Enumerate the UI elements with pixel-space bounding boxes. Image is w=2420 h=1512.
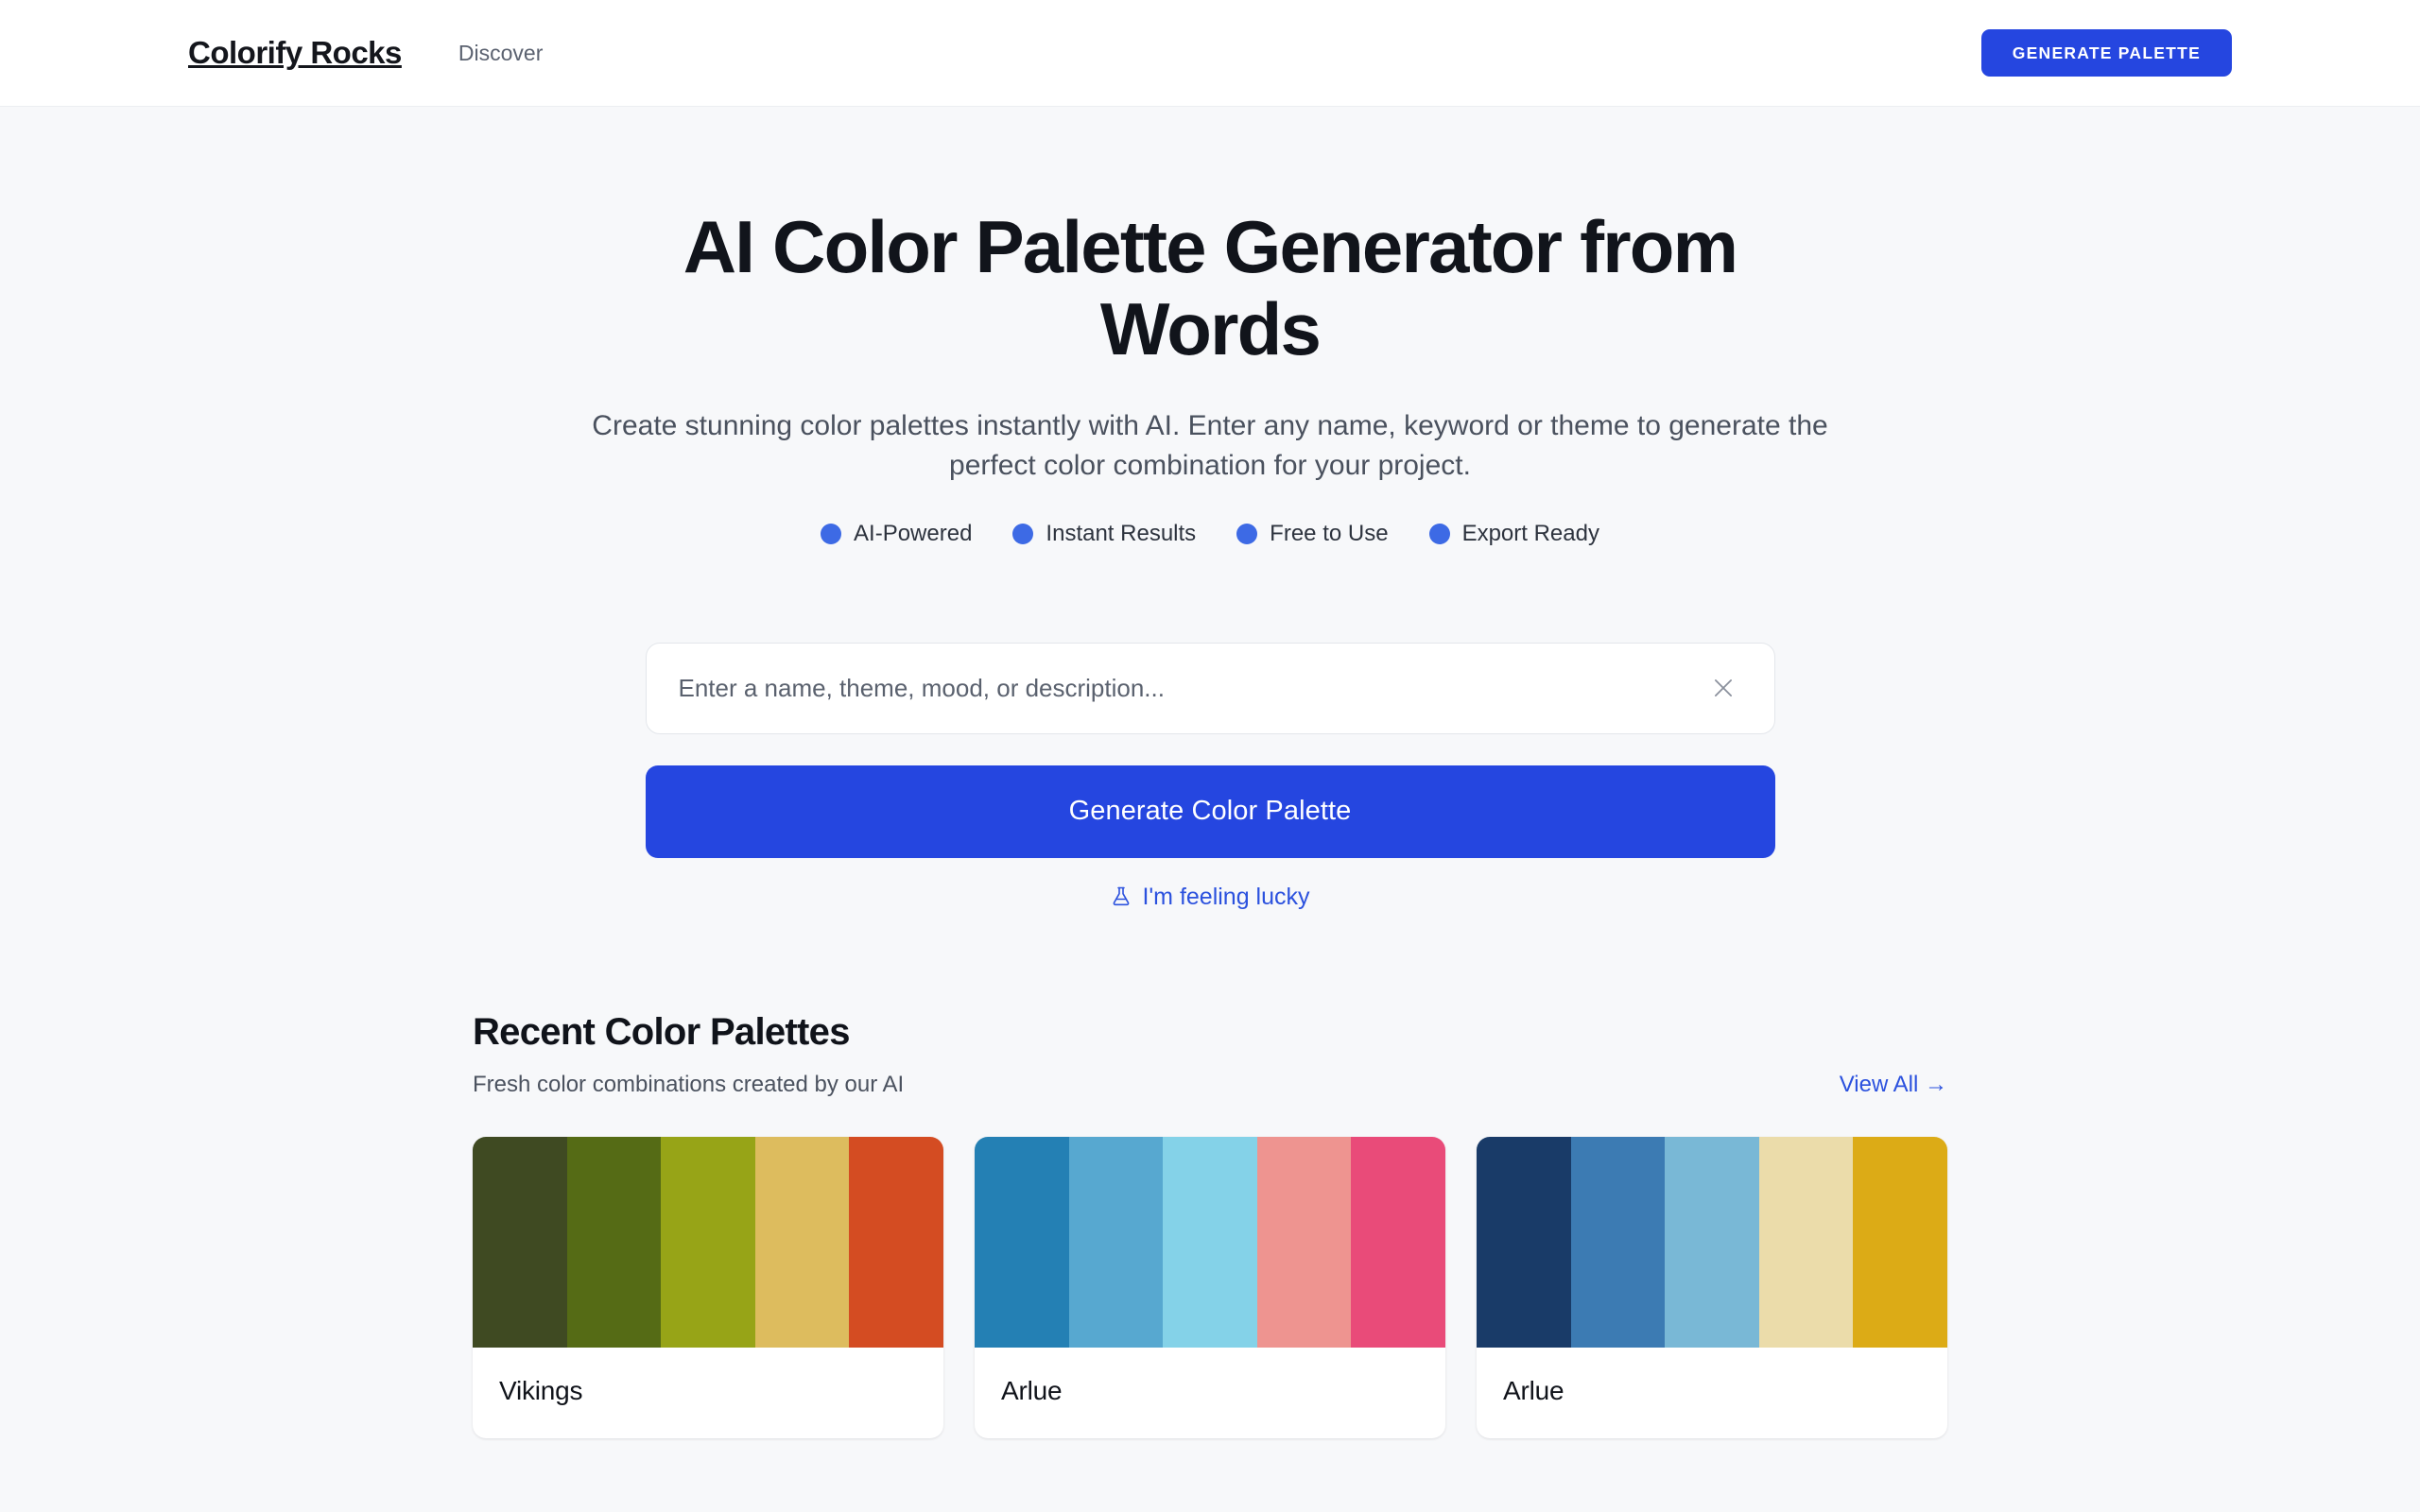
clear-input-button[interactable]	[1704, 669, 1742, 707]
palette-meta: Vikings	[473, 1348, 943, 1438]
feature-label: AI-Powered	[854, 521, 972, 547]
generate-palette-header-button[interactable]: GENERATE PALETTE	[1981, 29, 2232, 77]
hero-subtitle: Create stunning color palettes instantly…	[548, 406, 1872, 487]
color-swatch[interactable]	[1351, 1137, 1445, 1348]
color-swatch[interactable]	[661, 1137, 755, 1348]
palette-generator: Generate Color Palette I'm feeling lucky	[646, 643, 1775, 911]
color-swatch[interactable]	[1069, 1137, 1164, 1348]
color-swatch[interactable]	[1853, 1137, 1947, 1348]
dot-icon	[1236, 524, 1257, 544]
site-header: Colorify Rocks Discover GENERATE PALETTE	[0, 0, 2420, 107]
palette-meta: Arlue	[1477, 1348, 1947, 1438]
feature-label: Free to Use	[1270, 521, 1388, 547]
hero-section: AI Color Palette Generator from Words Cr…	[0, 107, 2420, 547]
color-swatch[interactable]	[1257, 1137, 1352, 1348]
section-subtitle: Fresh color combinations created by our …	[473, 1072, 904, 1098]
swatch-strip	[473, 1137, 943, 1348]
color-swatch[interactable]	[1665, 1137, 1759, 1348]
prompt-input[interactable]	[679, 644, 1704, 733]
generate-color-palette-button[interactable]: Generate Color Palette	[646, 765, 1775, 858]
dot-icon	[1429, 524, 1450, 544]
view-all-link[interactable]: View All →	[1840, 1072, 1947, 1098]
main-nav: Discover	[458, 41, 543, 66]
feature-item-free-to-use: Free to Use	[1236, 521, 1388, 547]
feature-item-export-ready: Export Ready	[1429, 521, 1599, 547]
feature-list: AI-Powered Instant Results Free to Use E…	[0, 521, 2420, 547]
color-swatch[interactable]	[1571, 1137, 1666, 1348]
palette-card[interactable]: Vikings	[473, 1137, 943, 1438]
color-swatch[interactable]	[755, 1137, 850, 1348]
recent-palettes-section: Recent Color Palettes Fresh color combin…	[473, 1011, 1947, 1438]
page-title: AI Color Palette Generator from Words	[586, 206, 1834, 371]
main-content: AI Color Palette Generator from Words Cr…	[0, 107, 2420, 1438]
palette-grid: Vikings Arlue	[473, 1137, 1947, 1438]
palette-meta: Arlue	[975, 1348, 1445, 1438]
palette-name: Arlue	[1001, 1376, 1419, 1406]
color-swatch[interactable]	[567, 1137, 662, 1348]
feature-item-instant-results: Instant Results	[1012, 521, 1196, 547]
palette-name: Vikings	[499, 1376, 917, 1406]
dot-icon	[1012, 524, 1033, 544]
palette-card[interactable]: Arlue	[975, 1137, 1445, 1438]
feature-item-ai-powered: AI-Powered	[821, 521, 972, 547]
color-swatch[interactable]	[849, 1137, 943, 1348]
color-swatch[interactable]	[975, 1137, 1069, 1348]
color-swatch[interactable]	[1163, 1137, 1257, 1348]
flask-icon	[1110, 885, 1132, 908]
prompt-input-wrapper	[646, 643, 1775, 734]
im-feeling-lucky-button[interactable]: I'm feeling lucky	[1110, 884, 1309, 911]
im-feeling-lucky-label: I'm feeling lucky	[1142, 884, 1309, 911]
color-swatch[interactable]	[473, 1137, 567, 1348]
palette-card[interactable]: Arlue	[1477, 1137, 1947, 1438]
color-swatch[interactable]	[1759, 1137, 1854, 1348]
section-subheader: Fresh color combinations created by our …	[473, 1072, 1947, 1098]
feature-label: Export Ready	[1462, 521, 1599, 547]
lucky-row: I'm feeling lucky	[646, 884, 1775, 911]
swatch-strip	[1477, 1137, 1947, 1348]
section-title: Recent Color Palettes	[473, 1011, 1947, 1054]
brand-logo[interactable]: Colorify Rocks	[188, 35, 402, 71]
color-swatch[interactable]	[1477, 1137, 1571, 1348]
palette-name: Arlue	[1503, 1376, 1921, 1406]
nav-item-discover[interactable]: Discover	[458, 41, 543, 66]
feature-label: Instant Results	[1046, 521, 1196, 547]
close-icon	[1709, 674, 1737, 702]
swatch-strip	[975, 1137, 1445, 1348]
dot-icon	[821, 524, 841, 544]
